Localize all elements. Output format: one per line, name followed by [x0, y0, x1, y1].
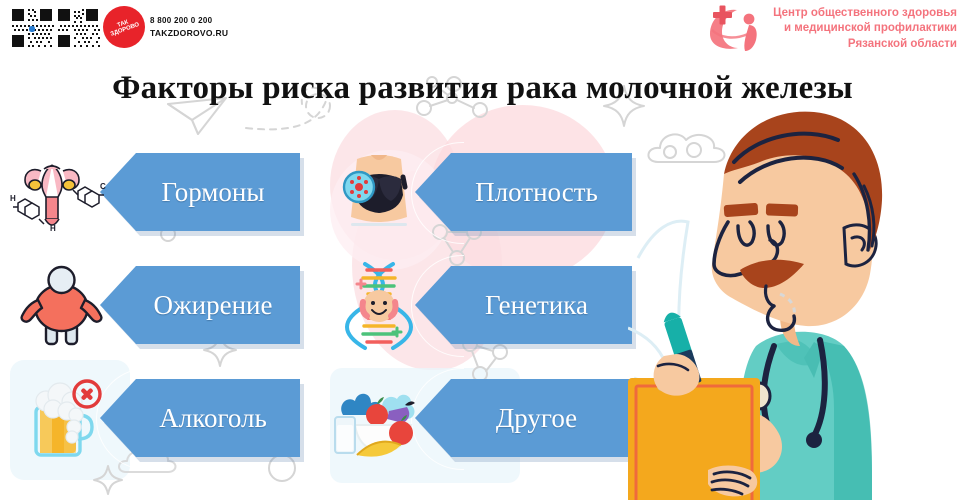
org-logo-line-1: Центр общественного здоровья [773, 6, 957, 21]
svg-text:H: H [10, 194, 16, 203]
qr-code-left-icon [10, 7, 54, 49]
factor-card-alcohol[interactable]: Алкоголь [100, 379, 300, 457]
medical-cross-person-icon [704, 4, 766, 54]
beer-mug-prohibited-icon [16, 371, 112, 465]
org-logo-line-3: Рязанской области [773, 37, 957, 52]
breast-density-icon [331, 145, 427, 239]
qr-code-right-icon [56, 7, 100, 49]
fruit-bowl-icon [331, 371, 427, 465]
dna-helix-icon [331, 258, 427, 352]
factor-card-genetics[interactable]: Генетика [415, 266, 632, 344]
hotline-block: 8 800 200 0 200 TAKZDOROVO.RU [150, 16, 228, 38]
hotline-phone: 8 800 200 0 200 [150, 16, 228, 25]
factor-card-obesity[interactable]: Ожирение [100, 266, 300, 344]
qr-code-right [56, 7, 100, 54]
org-logo-text: Центр общественного здоровья и медицинск… [773, 6, 957, 52]
takzdorovo-badge: ТАК ЗДОРОВО [103, 6, 145, 48]
factor-card-density[interactable]: Плотность [415, 153, 632, 231]
svg-text:C: C [100, 182, 106, 191]
org-logo-mark [704, 4, 766, 54]
org-logo-line-2: и медицинской профилактики [773, 21, 957, 36]
doctor-with-clipboard [628, 78, 965, 500]
qr-code-left [10, 7, 54, 54]
hotline-site: TAKZDOROVO.RU [150, 28, 228, 38]
org-logo: Центр общественного здоровья и медицинск… [704, 4, 957, 54]
svg-text:H: H [50, 224, 56, 233]
factor-card-other[interactable]: Другое [415, 379, 632, 457]
sparkle-doodle [94, 466, 122, 494]
obese-person-icon [16, 258, 112, 352]
uterus-hormones-icon: H H C [16, 145, 112, 239]
slide-canvas: ТАК ЗДОРОВО 8 800 200 0 200 TAKZDOROVO.R… [0, 0, 965, 500]
takzdorovo-badge-label: ТАК ЗДОРОВО [102, 14, 146, 40]
factor-card-hormones[interactable]: Гормоны [100, 153, 300, 231]
